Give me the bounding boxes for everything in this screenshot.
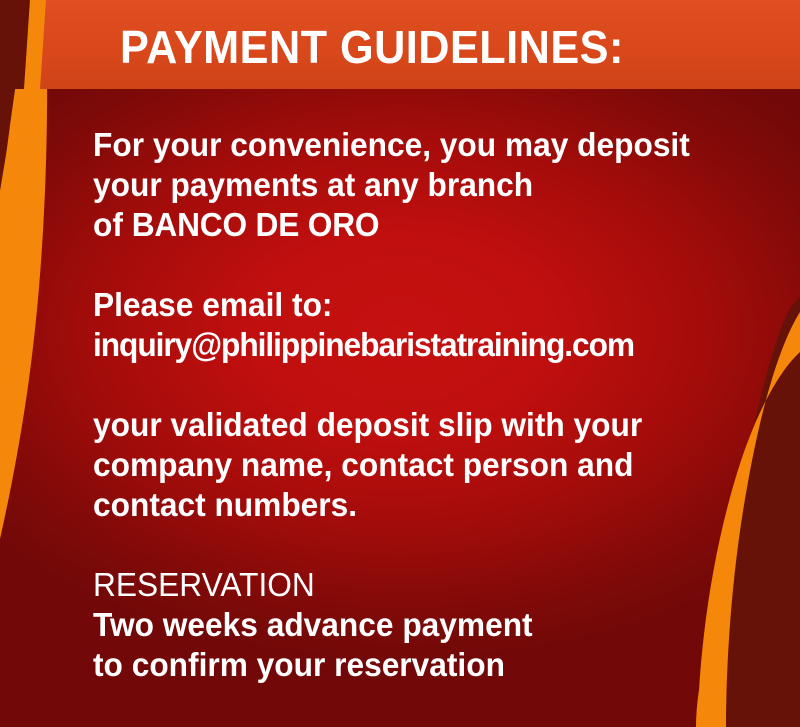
bank-name: BANCO DE ORO (132, 206, 380, 243)
paragraph-deposit-slip-details: your validated deposit slip with your co… (93, 405, 755, 525)
body-line-bank: of BANCO DE ORO (93, 205, 755, 245)
payment-guidelines-slide: PAYMENT GUIDELINES: For your convenience… (0, 0, 800, 727)
body-line: company name, contact person and (93, 445, 755, 485)
body-line: Two weeks advance payment (93, 605, 755, 645)
paragraph-spacer (93, 365, 755, 405)
body-line: Please email to: (93, 285, 755, 325)
paragraph-reservation-terms: RESERVATION Two weeks advance payment to… (93, 565, 755, 685)
body-line: your payments at any branch (93, 165, 755, 205)
page-title: PAYMENT GUIDELINES: (120, 24, 624, 70)
body-line: to confirm your reservation (93, 645, 755, 685)
slide-body: For your convenience, you may deposit yo… (93, 125, 755, 685)
body-line: your validated deposit slip with your (93, 405, 755, 445)
section-label-reservation: RESERVATION (93, 565, 755, 605)
email-address[interactable]: inquiry@philippinebaristatraining.com (93, 325, 755, 365)
paragraph-email-instructions: Please email to: inquiry@philippinebaris… (93, 285, 755, 365)
paragraph-deposit-instructions: For your convenience, you may deposit yo… (93, 125, 755, 245)
bank-line-prefix: of (93, 206, 132, 243)
body-line: contact numbers. (93, 485, 755, 525)
body-line: For your convenience, you may deposit (93, 125, 755, 165)
paragraph-spacer (93, 525, 755, 565)
paragraph-spacer (93, 245, 755, 285)
